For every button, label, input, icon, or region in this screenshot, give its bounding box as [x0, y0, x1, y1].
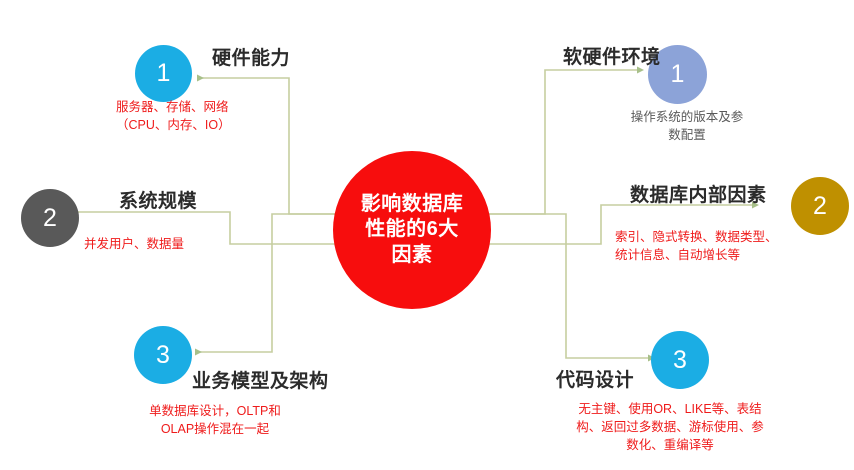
badge-number: 1 — [157, 59, 171, 88]
desc-code-design: 无主键、使用OR、LIKE等、表结 构、返回过多数据、游标使用、参 数化、重编译… — [520, 400, 820, 454]
title-database-internal-factors: 数据库内部因素 — [630, 180, 767, 207]
desc-hardware-capability: 服务器、存储、网络 （CPU、内存、IO） — [116, 98, 306, 134]
badge-number: 3 — [156, 341, 170, 370]
title-system-scale: 系统规模 — [119, 186, 197, 213]
badge-system-scale[interactable]: 2 — [21, 189, 79, 247]
badge-number: 2 — [43, 204, 57, 233]
desc-business-model-architecture: 单数据库设计，OLTP和 OLAP操作混在一起 — [100, 402, 330, 438]
badge-number: 1 — [671, 60, 685, 89]
badge-number: 3 — [673, 346, 687, 375]
desc-system-scale: 并发用户、数据量 — [84, 235, 284, 253]
badge-database-internal-factors[interactable]: 2 — [791, 177, 849, 235]
badge-code-design[interactable]: 3 — [651, 331, 709, 389]
desc-software-hardware-environment: 操作系统的版本及参 数配置 — [612, 108, 762, 144]
badge-hardware-capability[interactable]: 1 — [135, 45, 192, 102]
title-hardware-capability: 硬件能力 — [212, 43, 290, 70]
diagram-canvas: 影响数据库 性能的6大 因素 1 硬件能力 服务器、存储、网络 （CPU、内存、… — [0, 0, 854, 470]
hub-circle: 影响数据库 性能的6大 因素 — [333, 151, 491, 309]
title-software-hardware-environment: 软硬件环境 — [563, 42, 661, 69]
badge-business-model-architecture[interactable]: 3 — [134, 326, 192, 384]
badge-number: 2 — [813, 192, 827, 221]
title-code-design: 代码设计 — [556, 365, 634, 392]
hub-label: 影响数据库 性能的6大 因素 — [361, 192, 464, 269]
desc-database-internal-factors: 索引、隐式转换、数据类型、 统计信息、自动增长等 — [615, 228, 840, 264]
title-business-model-architecture: 业务模型及架构 — [192, 366, 329, 393]
